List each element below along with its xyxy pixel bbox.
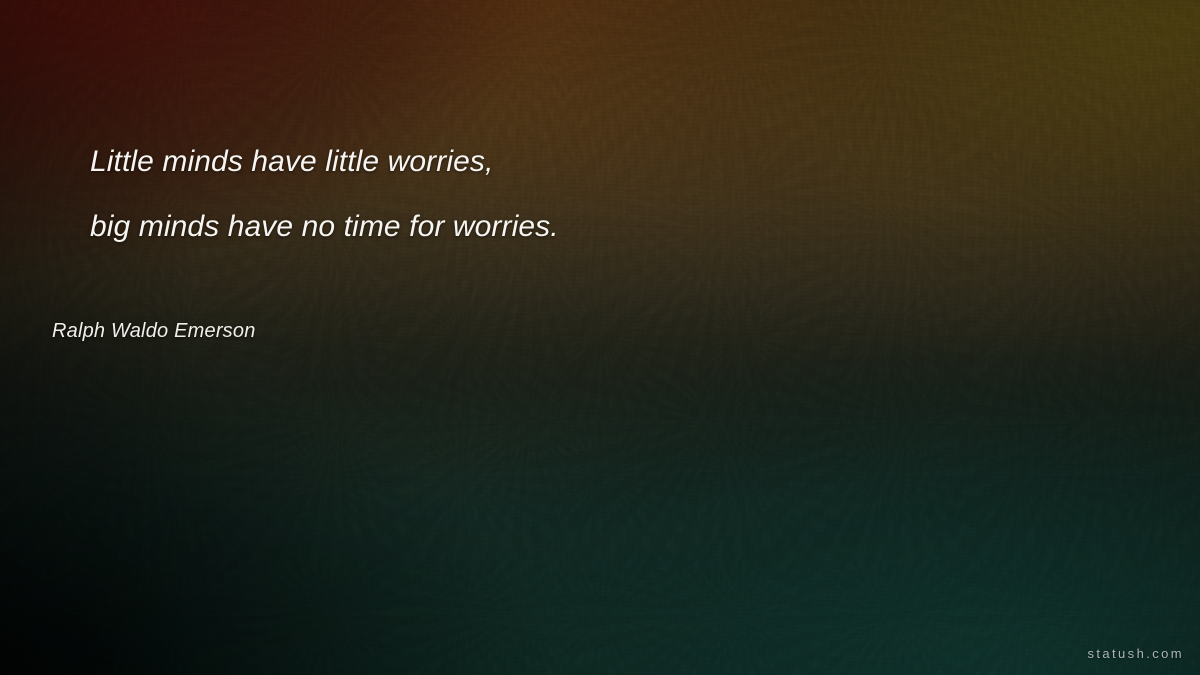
card-content: Little minds have little worries, big mi… <box>0 0 1200 675</box>
quote-card: Little minds have little worries, big mi… <box>0 0 1200 675</box>
quote-line-1: Little minds have little worries, <box>90 129 1090 194</box>
quote-author: Ralph Waldo Emerson <box>52 320 256 343</box>
quote-text-block: Little minds have little worries, big mi… <box>90 129 1090 259</box>
quote-line-2: big minds have no time for worries. <box>90 194 1090 259</box>
site-watermark: statush.com <box>1088 646 1185 661</box>
